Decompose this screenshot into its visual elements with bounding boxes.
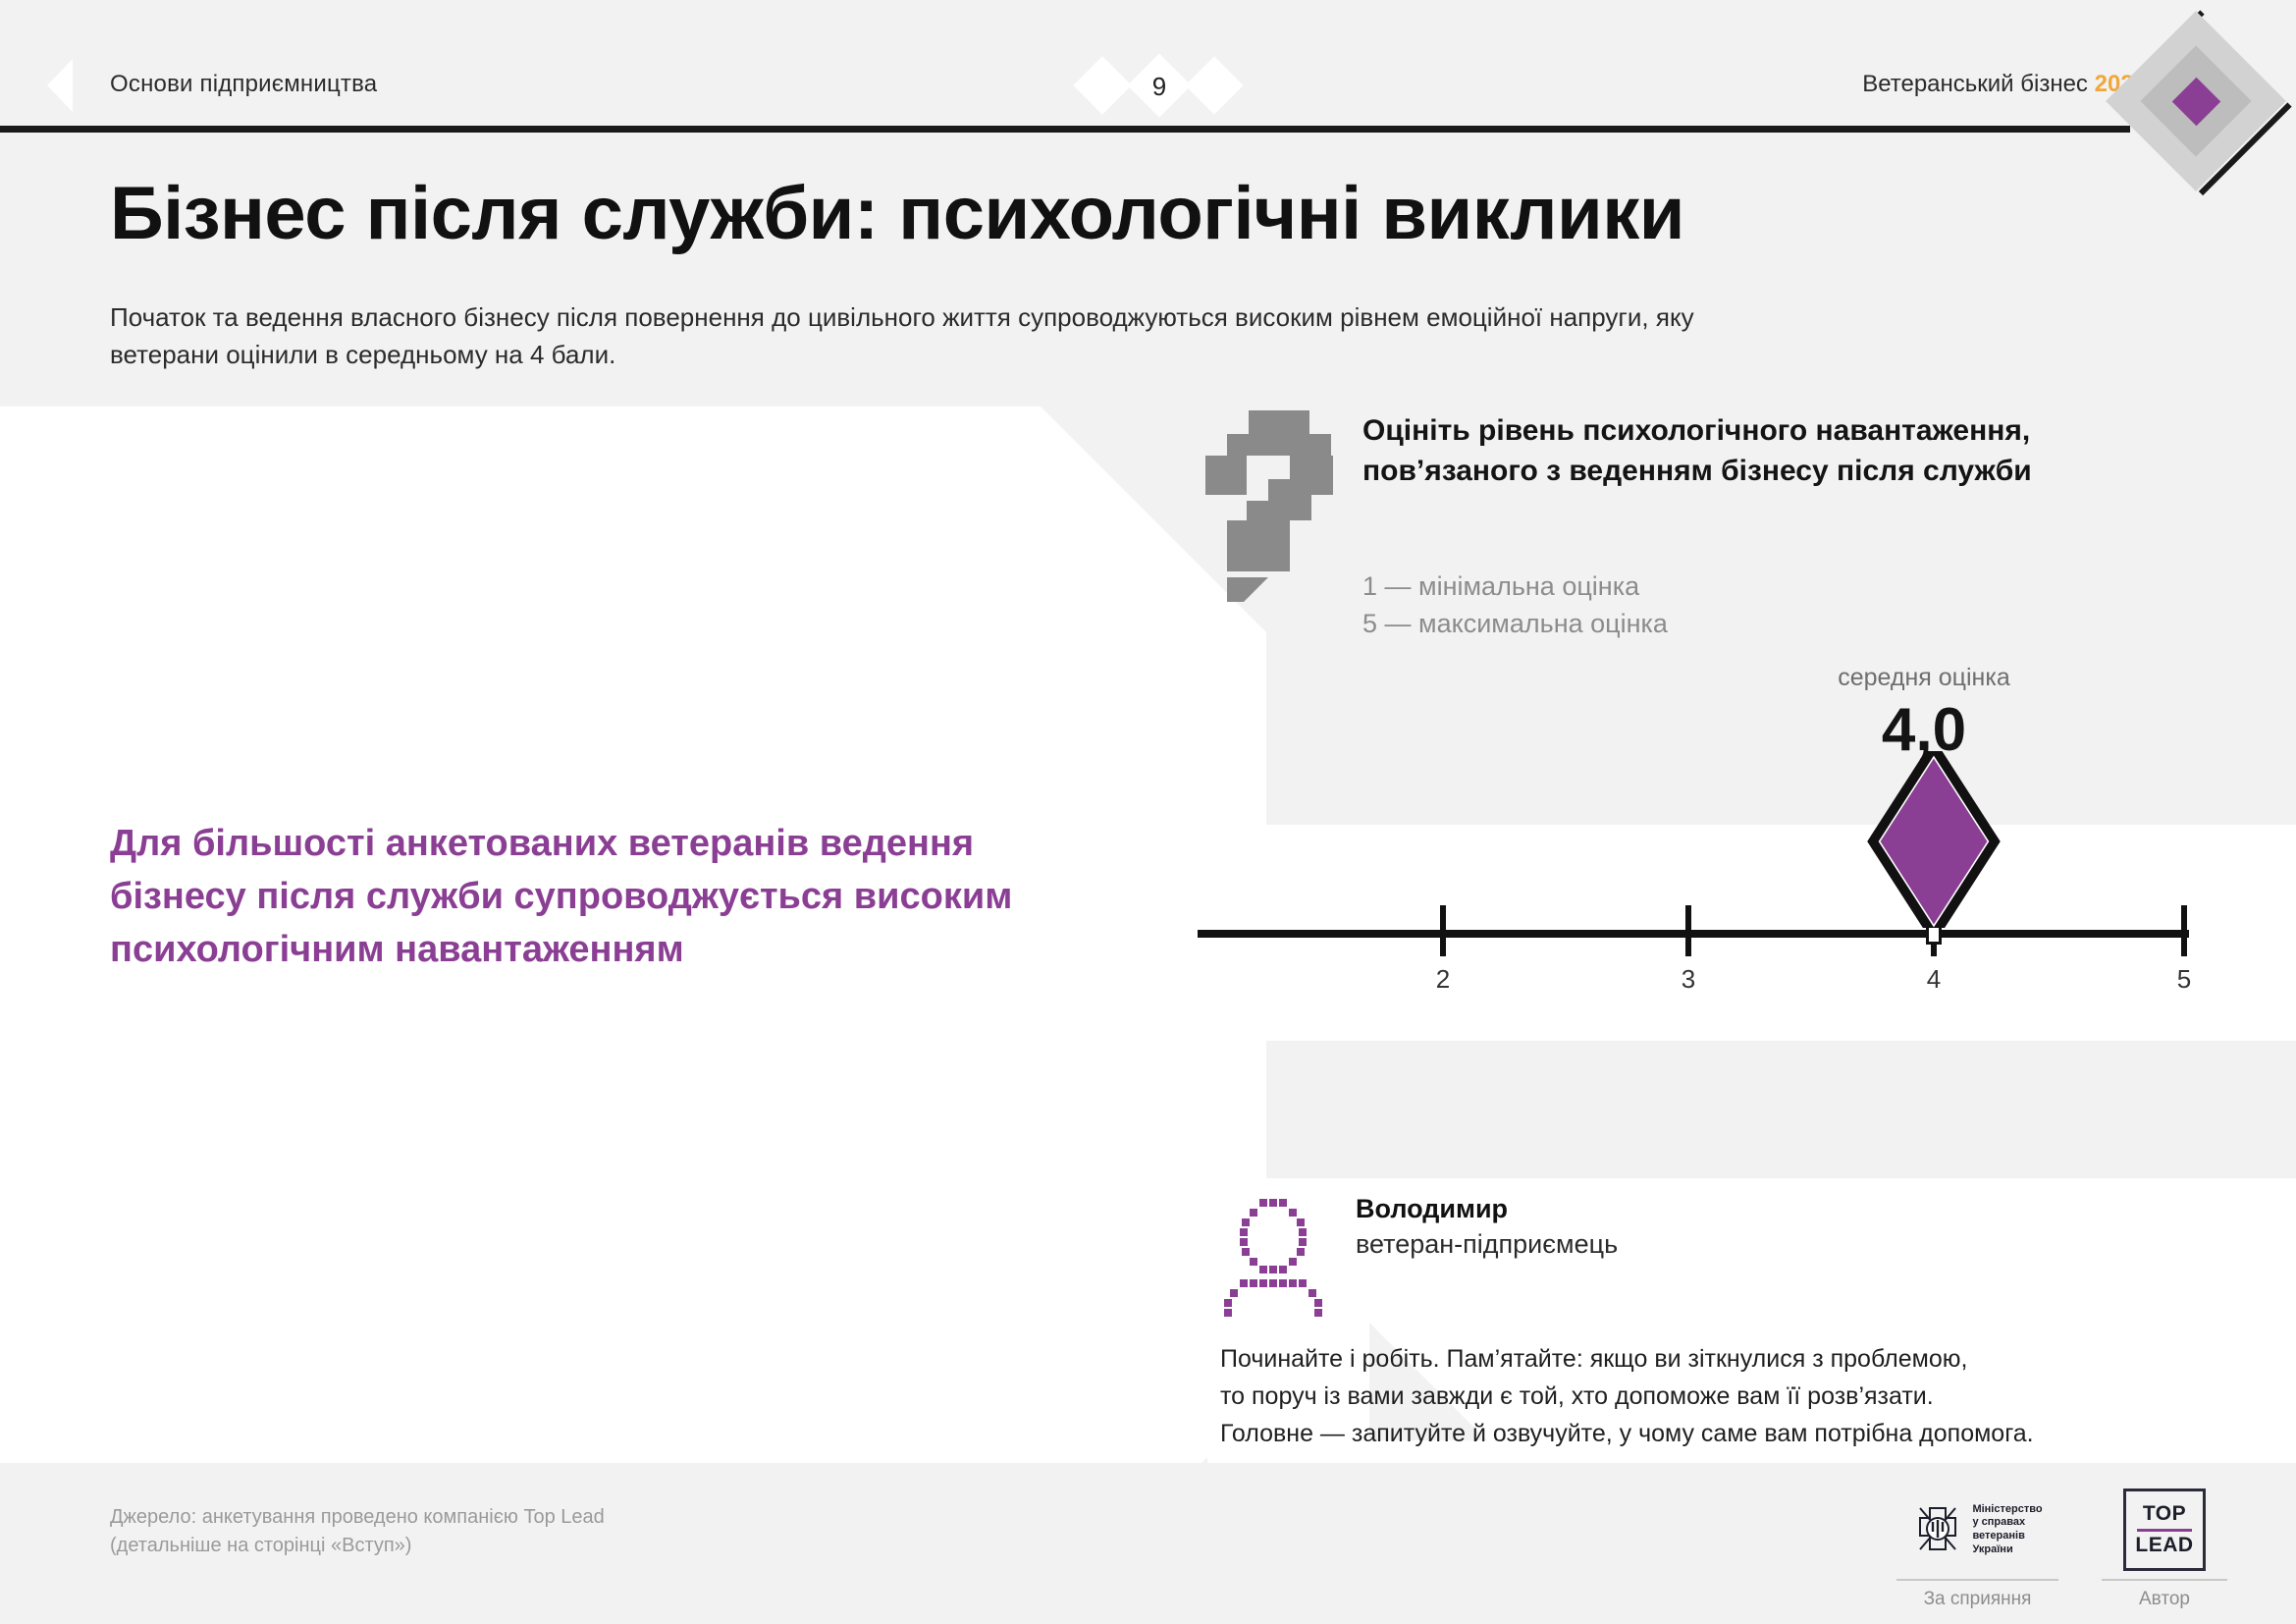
ministry-logo: Міністерство у справах ветеранів України: [1896, 1485, 2058, 1575]
axis-label-5: 5: [2160, 964, 2209, 995]
brand-diamond-icon: [2110, 16, 2282, 188]
previous-slide-chevron-icon[interactable]: [47, 59, 73, 112]
quote-line-1: Починайте і робіть. Пам’ятайте: якщо ви …: [1220, 1340, 2261, 1378]
source-line-1: Джерело: анкетування проведено компанією…: [110, 1503, 605, 1532]
toplead-divider: [2137, 1529, 2192, 1532]
quote-line-3: Головне — запитуйте й озвучуйте, у чому …: [1220, 1415, 2261, 1452]
diamond-left-icon: [1073, 56, 1131, 114]
header-divider: [0, 126, 2130, 133]
testimonial-quote: Починайте і робіть. Пам’ятайте: якщо ви …: [1220, 1340, 2261, 1452]
axis-tick-2: [1440, 905, 1446, 956]
key-insight-callout: Для більшості анкетованих ветеранів веде…: [110, 818, 1052, 977]
quote-line-2: то поруч із вами завжди є той, хто допом…: [1220, 1378, 2261, 1415]
axis-label-3: 3: [1664, 964, 1713, 995]
axis-label-4: 4: [1909, 964, 1958, 995]
toplead-top-text: TOP: [2143, 1503, 2186, 1525]
support-logo-block: Міністерство у справах ветеранів України…: [1896, 1485, 2058, 1610]
scale-legend-min: 1 — мінімальна оцінка: [1362, 568, 1668, 605]
author-caption: Автор: [2102, 1579, 2227, 1610]
author-logo-block: TOP LEAD Автор: [2102, 1485, 2227, 1610]
avatar-icon: [1216, 1187, 1332, 1317]
page-number: 9: [1137, 71, 1182, 102]
ministry-emblem-icon: [1912, 1502, 1963, 1557]
axis-tick-3: [1685, 905, 1691, 956]
page-subtitle: Початок та ведення власного бізнесу післ…: [110, 299, 1779, 373]
average-marker-diamond: [1845, 751, 2042, 928]
header-publication-label: Ветеранський бізнес 2026: [1862, 71, 2147, 98]
question-prompt: Оцініть рівень психологічного навантажен…: [1362, 410, 2177, 492]
ministry-line-3: ветеранів: [1972, 1530, 2042, 1543]
scale-legend-max: 5 — максимальна оцінка: [1362, 605, 1668, 642]
ministry-line-2: у справах: [1972, 1516, 2042, 1530]
page-indicator: 9: [1080, 57, 1237, 114]
axis-label-2: 2: [1418, 964, 1468, 995]
testimonial-role: ветеран-підприємець: [1356, 1229, 1618, 1260]
page-title: Бізнес після служби: психологічні виклик…: [110, 175, 2171, 253]
slide-header: Основи підприємництва 9 Ветеранський біз…: [0, 0, 2296, 130]
ministry-line-1: Міністерство: [1972, 1503, 2042, 1517]
support-caption: За сприяння: [1896, 1579, 2058, 1610]
ministry-line-4: України: [1972, 1543, 2042, 1557]
header-publication-title: Ветеранський бізнес: [1862, 71, 2088, 97]
rating-scale-chart: 2 3 4 5: [1198, 776, 2199, 1001]
slide-root: Основи підприємництва 9 Ветеранський біз…: [0, 0, 2296, 1624]
axis-line: [1198, 930, 2189, 938]
testimonial-name: Володимир: [1356, 1194, 1508, 1224]
ministry-name: Міністерство у справах ветеранів України: [1972, 1503, 2042, 1557]
source-line-2: (детальніше на сторінці «Вступ»): [110, 1532, 605, 1560]
footer-logos: Міністерство у справах ветеранів України…: [1896, 1485, 2227, 1610]
average-score-label: середня оцінка: [1728, 664, 2120, 692]
question-mark-icon: [1205, 410, 1333, 602]
source-note: Джерело: анкетування проведено компанією…: [110, 1503, 605, 1560]
toplead-logo: TOP LEAD: [2102, 1485, 2227, 1575]
toplead-bottom-text: LEAD: [2135, 1535, 2193, 1556]
header-section-label: Основи підприємництва: [110, 71, 377, 98]
scale-legend: 1 — мінімальна оцінка 5 — максимальна оц…: [1362, 568, 1668, 643]
diamond-right-icon: [1185, 56, 1243, 114]
axis-tick-5: [2181, 905, 2187, 956]
